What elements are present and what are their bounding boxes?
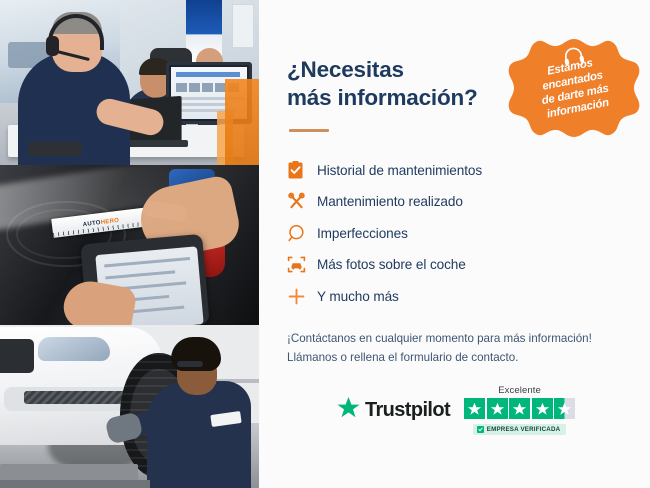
feature-item-mantenimiento: Mantenimiento realizado: [287, 186, 624, 218]
feature-item-imperfecciones: Imperfecciones: [287, 217, 624, 249]
rating-label: Excelente: [498, 385, 541, 396]
content-panel: ¿Necesitas más información? Historial de…: [259, 0, 650, 488]
status-badge: EMPRESA VERIFICADA: [473, 424, 567, 435]
car-lower-vent: [24, 391, 128, 404]
feature-label: Imperfecciones: [317, 226, 408, 241]
desk-tablet: [28, 142, 82, 156]
star-filled: [509, 398, 530, 419]
photo-column: AUTOHERO: [0, 0, 259, 488]
tools-icon: [287, 192, 317, 211]
star-rating: [464, 398, 575, 419]
monitor-header-bar: [176, 72, 240, 77]
orange-equipment: [225, 79, 259, 165]
feature-item-historial: Historial de mantenimientos: [287, 154, 624, 186]
feature-label: Historial de mantenimientos: [317, 163, 482, 178]
verified-check-icon: [477, 426, 484, 433]
mechanic-wheel-photo: [0, 325, 259, 488]
monitor-text-row: [176, 103, 228, 106]
info-badge: Estamos encantados de darte más informac…: [506, 20, 642, 156]
trustpilot-wordmark: Trustpilot: [365, 399, 450, 422]
car-headlight: [38, 337, 110, 361]
contact-paragraph: ¡Contáctanos en cualquier momento para m…: [287, 330, 624, 368]
wall-poster-secondary: [232, 4, 254, 48]
trustpilot-star-icon: [336, 396, 361, 425]
call-center-agents-photo: [0, 0, 259, 165]
contact-line-2: Llámanos o rellena el formulario de cont…: [287, 351, 518, 364]
promo-card: AUTOHERO: [0, 0, 650, 488]
plus-icon: [287, 287, 317, 306]
headline-line-1: ¿Necesitas: [287, 57, 404, 82]
mechanic-body: [147, 381, 251, 488]
trustpilot-rating: Excelente: [464, 385, 575, 435]
feature-label: Y mucho más: [317, 289, 399, 304]
star-filled: [464, 398, 485, 419]
star-filled: [532, 398, 553, 419]
feature-list: Historial de mantenimientos Mantenimient…: [287, 154, 624, 312]
magnifier-icon: [287, 224, 317, 243]
verified-label: EMPRESA VERIFICADA: [487, 426, 561, 433]
feature-label: Mantenimiento realizado: [317, 194, 463, 209]
feature-item-mas: Y mucho más: [287, 280, 624, 312]
title-divider: [289, 129, 329, 132]
trustpilot-logo: Trustpilot: [336, 396, 450, 425]
car-grille: [0, 339, 34, 373]
contact-line-1: ¡Contáctanos en cualquier momento para m…: [287, 332, 592, 345]
star-half: [554, 398, 575, 419]
feature-label: Más fotos sobre el coche: [317, 257, 466, 272]
car-inspection-ruler-photo: AUTOHERO: [0, 165, 259, 325]
trustpilot-block: Trustpilot Excelente: [287, 385, 624, 435]
clipboard-check-icon: [287, 161, 317, 180]
star-filled: [487, 398, 508, 419]
headline-line-2: más información?: [287, 85, 478, 110]
mechanic-safety-glasses: [177, 361, 203, 367]
car-focus-icon: [287, 255, 317, 274]
feature-item-fotos: Más fotos sobre el coche: [287, 249, 624, 281]
car-lift-base: [0, 480, 150, 488]
